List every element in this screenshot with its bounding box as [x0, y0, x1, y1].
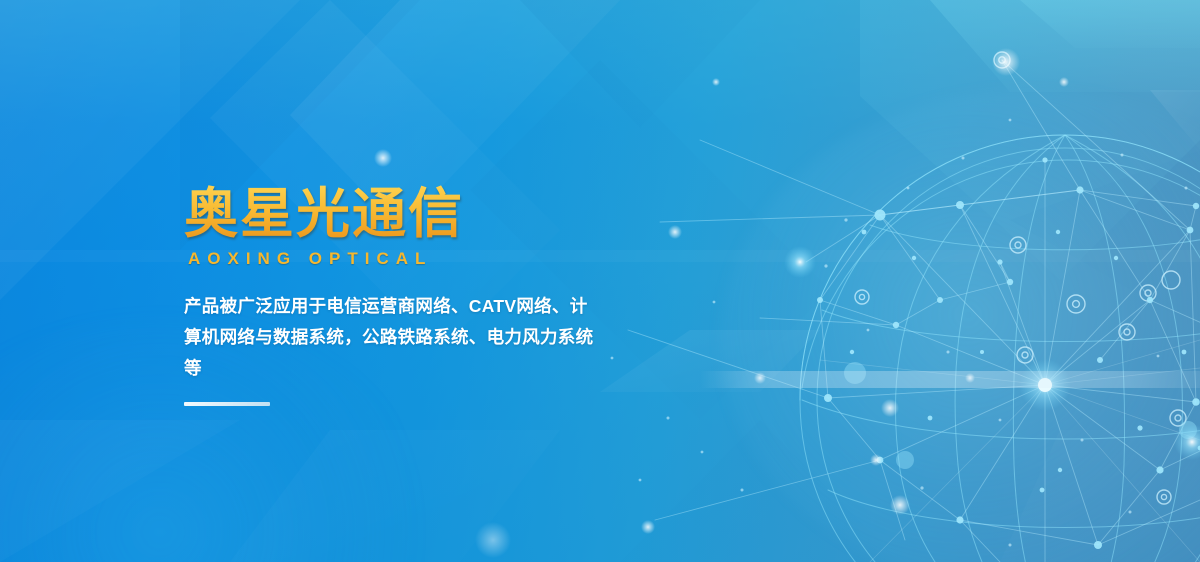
- hero-banner: 奥星光通信 AOXING OPTICAL 产品被广泛应用于电信运营商网络、CAT…: [0, 0, 1200, 562]
- hero-content: 奥星光通信 AOXING OPTICAL 产品被广泛应用于电信运营商网络、CAT…: [184, 185, 654, 406]
- divider-rule: [184, 402, 270, 406]
- brand-title: 奥星光通信: [184, 185, 654, 243]
- brand-subtitle: AOXING OPTICAL: [188, 249, 654, 269]
- hero-description: 产品被广泛应用于电信运营商网络、CATV网络、计算机网络与数据系统，公路铁路系统…: [184, 291, 594, 384]
